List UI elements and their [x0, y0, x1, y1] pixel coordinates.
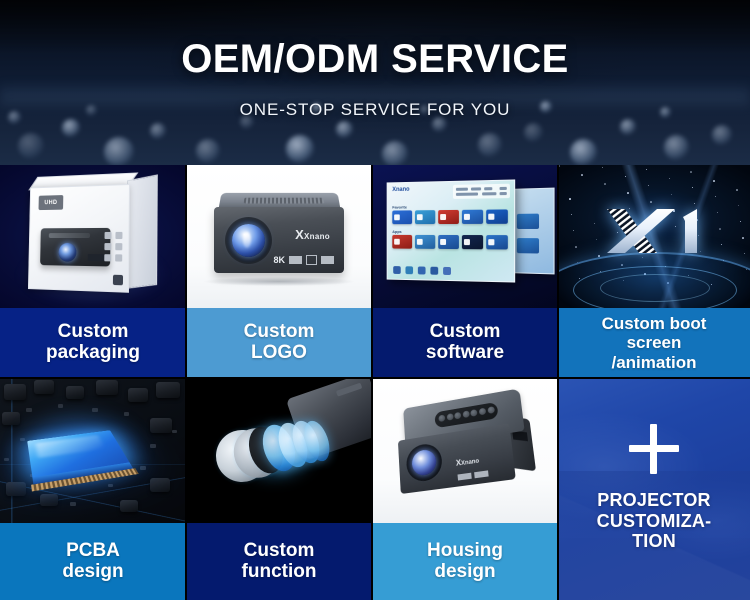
- pcb-smd-component: [172, 430, 177, 433]
- spec-badges: 8K: [273, 255, 334, 265]
- launcher-screen: Xnano Favorite Apps: [387, 179, 516, 282]
- label-text: Custom boot screen /animation: [602, 314, 707, 371]
- launcher-row-label-1: Favorite: [392, 205, 407, 210]
- label-housing-design: Housing design: [372, 523, 558, 600]
- badge-8k-icon: [458, 473, 472, 481]
- label-custom-logo: Custom LOGO: [186, 308, 372, 378]
- spec-badges: [458, 470, 489, 480]
- control-button[interactable]: [487, 406, 495, 414]
- label-custom-function: Custom function: [186, 523, 372, 600]
- customization-text: PROJECTOR CUSTOMIZA- TION: [562, 490, 746, 552]
- status-bar-item: [484, 187, 492, 190]
- control-button-panel: [434, 402, 498, 428]
- banner-header: OEM/ODM SERVICE ONE-STOP SERVICE FOR YOU: [0, 0, 750, 165]
- launcher-app-tile[interactable]: [438, 210, 459, 224]
- uhd-badge: UHD: [39, 195, 64, 210]
- badge-dolby-icon: [474, 470, 489, 478]
- pcb-capacitor: [120, 500, 138, 512]
- box-feature-icon: [104, 243, 111, 250]
- launcher-app-tile[interactable]: [486, 235, 508, 249]
- box-feature-icon: [104, 254, 111, 261]
- bokeh-light: [150, 123, 166, 139]
- control-button[interactable]: [438, 415, 445, 423]
- label-text: Custom LOGO: [244, 322, 315, 363]
- pcb-capacitor: [96, 380, 118, 395]
- secondary-app-tile: [517, 238, 539, 253]
- label-custom-boot-screen: Custom boot screen /animation: [558, 308, 750, 378]
- pcb-capacitor: [4, 384, 26, 400]
- status-bar-item: [471, 187, 481, 190]
- label-pcba-design: PCBA design: [0, 523, 186, 600]
- pcb-capacitor: [150, 478, 170, 492]
- card-custom-logo[interactable]: XXnano 8K Custom LOGO: [186, 165, 372, 378]
- control-button[interactable]: [471, 409, 478, 417]
- bokeh-light: [18, 133, 44, 159]
- bokeh-light: [524, 123, 543, 142]
- status-bar-item: [482, 192, 496, 195]
- label-custom-packaging: Custom packaging: [0, 308, 186, 378]
- pcb-capacitor: [156, 382, 180, 398]
- label-text: Housing design: [427, 541, 503, 582]
- grid-gutter-row: [0, 377, 750, 379]
- plus-icon: [629, 424, 679, 474]
- media-circuit-board: [0, 378, 186, 523]
- dock-icon[interactable]: [393, 266, 401, 274]
- card-custom-software[interactable]: Xnano Favorite Apps Custom software: [372, 165, 558, 378]
- launcher-app-tile[interactable]: [415, 210, 435, 224]
- label-text: Custom software: [426, 322, 504, 363]
- control-button[interactable]: [462, 410, 469, 418]
- retail-box: UHD: [28, 183, 155, 291]
- projector-vent: [244, 198, 325, 204]
- card-custom-boot-screen[interactable]: Custom boot screen /animation: [558, 165, 750, 378]
- box-projector-badge: [88, 254, 105, 261]
- badge-dolby-icon: [306, 255, 317, 265]
- grid-gutter-1: [185, 165, 187, 600]
- bokeh-light: [712, 125, 732, 145]
- hologram-ring-3: [600, 274, 710, 302]
- box-feature-icon: [105, 232, 112, 239]
- box-corner-logo: [113, 275, 123, 286]
- launcher-app-tile[interactable]: [392, 210, 412, 224]
- page-title: OEM/ODM SERVICE: [0, 0, 750, 79]
- bokeh-light: [432, 117, 447, 132]
- status-bar-item: [456, 192, 478, 195]
- pcb-smd-component: [70, 502, 76, 506]
- app-icon: [488, 214, 494, 220]
- bokeh-light: [664, 135, 689, 160]
- brand-logo: XXnano: [295, 227, 330, 242]
- media-retail-box: UHD: [0, 165, 186, 308]
- page-subtitle: ONE-STOP SERVICE FOR YOU: [0, 79, 750, 118]
- bokeh-light: [382, 141, 408, 165]
- app-icon: [394, 239, 400, 245]
- box-feature-icon: [115, 243, 122, 250]
- status-bar-item: [500, 192, 507, 195]
- service-grid: UHD Custom packaging: [0, 165, 750, 600]
- box-feature-icon: [115, 254, 122, 261]
- brand-logo: XXnano: [456, 456, 480, 468]
- badge-8k: 8K: [273, 255, 285, 265]
- card-custom-packaging[interactable]: UHD Custom packaging: [0, 165, 186, 378]
- projector-lens-ring: [225, 217, 272, 264]
- pcb-capacitor: [66, 386, 84, 399]
- label-text: Custom function: [242, 541, 317, 582]
- launcher-brand: Xnano: [392, 187, 409, 193]
- media-projector-front: XXnano 8K: [186, 165, 372, 308]
- launcher-app-tile[interactable]: [392, 235, 412, 249]
- pcb-capacitor: [150, 418, 172, 433]
- pcb-capacitor: [128, 388, 148, 402]
- dock-icon[interactable]: [443, 267, 451, 275]
- bokeh-light: [104, 137, 134, 165]
- x1-logo: [558, 201, 750, 268]
- box-feature-icons: [104, 232, 124, 273]
- media-boot-animation: [558, 165, 750, 308]
- badge-hdr-icon: [289, 256, 302, 264]
- bokeh-light: [336, 121, 353, 138]
- customization-panel: PROJECTOR CUSTOMIZA- TION: [558, 378, 750, 600]
- bokeh-light: [62, 119, 80, 137]
- label-text: Custom packaging: [46, 322, 140, 363]
- launcher-app-row-2: [392, 235, 508, 250]
- app-icon: [464, 239, 470, 245]
- dock-icon[interactable]: [430, 267, 438, 275]
- card-pcba-design[interactable]: PCBA design: [0, 378, 186, 600]
- oem-odm-service-banner: OEM/ODM SERVICE ONE-STOP SERVICE FOR YOU…: [0, 0, 750, 600]
- media-projector-angled: XXnano: [372, 378, 558, 523]
- secondary-app-tile: [517, 214, 539, 229]
- launcher-app-tile[interactable]: [438, 235, 459, 249]
- app-icon: [440, 239, 446, 245]
- launcher-app-tile[interactable]: [462, 235, 483, 249]
- box-front-face: UHD: [28, 184, 130, 293]
- projector-angled: XXnano: [396, 387, 538, 507]
- x1-logo-icon: [599, 201, 709, 263]
- card-projector-customization[interactable]: PROJECTOR CUSTOMIZA- TION: [558, 378, 750, 600]
- control-button[interactable]: [446, 413, 453, 421]
- projector-front: XXnano 8K: [214, 191, 344, 279]
- app-icon: [488, 239, 494, 245]
- media-launcher-screen: Xnano Favorite Apps: [372, 165, 558, 308]
- projector-lens-assembly: [405, 442, 443, 484]
- app-icon: [417, 214, 423, 220]
- box-side-face: [126, 174, 158, 289]
- badge-audio-icon: [321, 256, 334, 264]
- box-projector-lens: [58, 243, 76, 262]
- app-icon: [440, 214, 446, 220]
- projector-body: XXnano 8K: [214, 207, 344, 273]
- bokeh-light: [570, 139, 597, 165]
- box-feature-icon: [115, 232, 122, 239]
- app-icon: [417, 239, 423, 245]
- label-custom-software: Custom software: [372, 308, 558, 378]
- launcher-app-tile[interactable]: [462, 210, 483, 224]
- control-button[interactable]: [454, 412, 461, 420]
- app-icon: [464, 214, 470, 220]
- grid-gutter-3: [557, 165, 559, 600]
- grid-gutter-2: [371, 165, 373, 600]
- launcher-app-tile[interactable]: [415, 235, 435, 249]
- card-custom-function[interactable]: Custom function: [186, 378, 372, 600]
- status-bar-item: [500, 187, 507, 190]
- bokeh-light: [196, 139, 220, 163]
- launcher-app-tile[interactable]: [486, 209, 508, 223]
- dock-icon[interactable]: [418, 266, 426, 274]
- pcb-capacitor: [34, 380, 54, 394]
- projector-lens: [232, 224, 265, 257]
- launcher-dock: [393, 266, 451, 275]
- launcher-status-bar: [453, 184, 510, 199]
- bokeh-light: [478, 133, 502, 157]
- launcher-row-label-2: Apps: [392, 229, 401, 234]
- bokeh-light: [620, 119, 636, 135]
- pcb-smd-component: [150, 444, 156, 448]
- launcher-app-row-1: [392, 209, 508, 224]
- media-lens-assembly: [186, 378, 372, 523]
- app-icon: [394, 214, 400, 220]
- bokeh-light: [286, 135, 314, 163]
- uhd-badge-label: UHD: [44, 200, 57, 206]
- dock-icon[interactable]: [405, 266, 413, 274]
- card-housing-design[interactable]: XXnano Housing design: [372, 378, 558, 600]
- box-projector-art: [40, 228, 110, 267]
- label-text: PCBA design: [62, 541, 123, 582]
- control-button[interactable]: [479, 408, 486, 416]
- status-bar-item: [456, 188, 468, 191]
